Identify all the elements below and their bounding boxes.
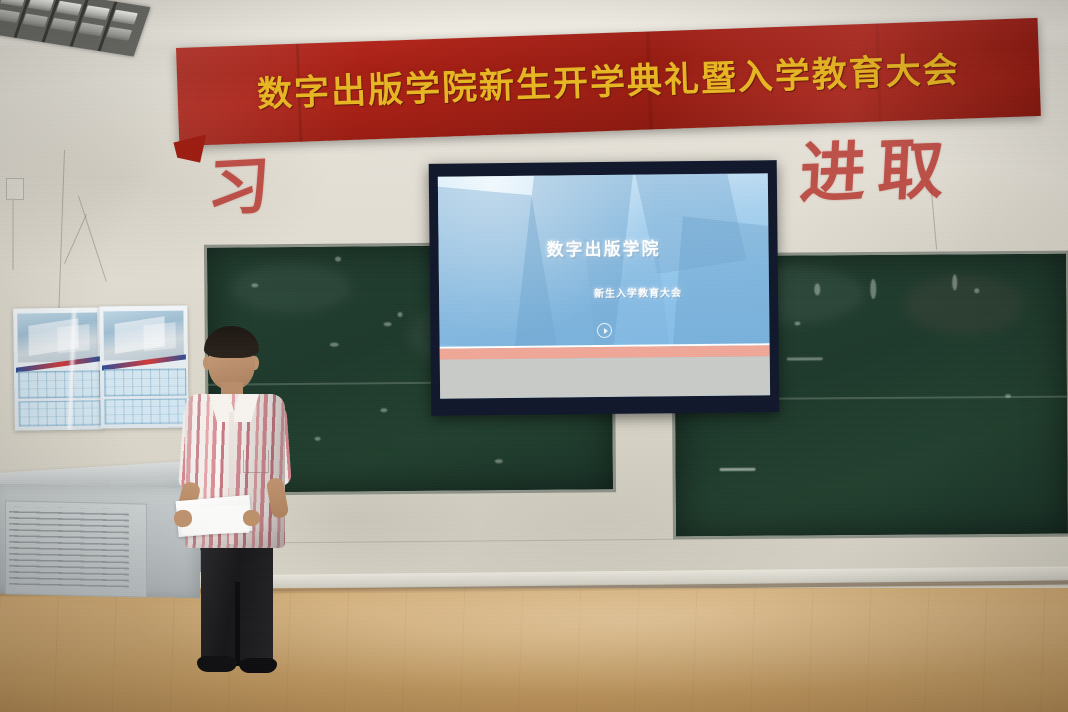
lectern-vent-louvers xyxy=(9,507,129,588)
wall-conduit xyxy=(12,198,14,270)
presentation-slide: 数字出版学院 新生入学教育大会 xyxy=(438,173,770,398)
poster-building-photo xyxy=(103,310,184,360)
slide-footer-band xyxy=(440,356,770,398)
presenter-shoe-right xyxy=(239,658,277,673)
poster-table-grid xyxy=(18,400,101,426)
projection-screen: 数字出版学院 新生入学教育大会 xyxy=(429,160,780,416)
floor-light-reflection xyxy=(0,588,1068,712)
wall-crack xyxy=(64,214,87,264)
play-circle-icon xyxy=(597,323,612,338)
banner-title-text: 数字出版学院新生开学典礼暨入学教育大会 xyxy=(256,41,960,117)
wall-crack xyxy=(930,180,937,250)
floor xyxy=(0,588,1068,712)
poster-table-grid xyxy=(104,398,187,424)
poster-table-grid xyxy=(104,369,187,396)
presenter-hand-right xyxy=(243,510,260,526)
poster-table-grid xyxy=(18,371,101,399)
presenter-shirt-pocket xyxy=(243,450,269,473)
presenter-hair xyxy=(204,326,259,358)
presenter-leg-gap xyxy=(235,582,240,666)
wall-crack xyxy=(78,196,107,282)
photo-scene: 习 进取 xyxy=(0,0,1068,712)
presenter-shoe-left xyxy=(197,656,237,672)
schedule-poster-left xyxy=(13,307,103,430)
poster-building-photo xyxy=(17,312,99,362)
wall-junction-box xyxy=(6,178,24,200)
slide-title: 数字出版学院 xyxy=(438,233,768,261)
presenter-speaker xyxy=(183,320,291,690)
schedule-poster-right xyxy=(99,306,188,429)
